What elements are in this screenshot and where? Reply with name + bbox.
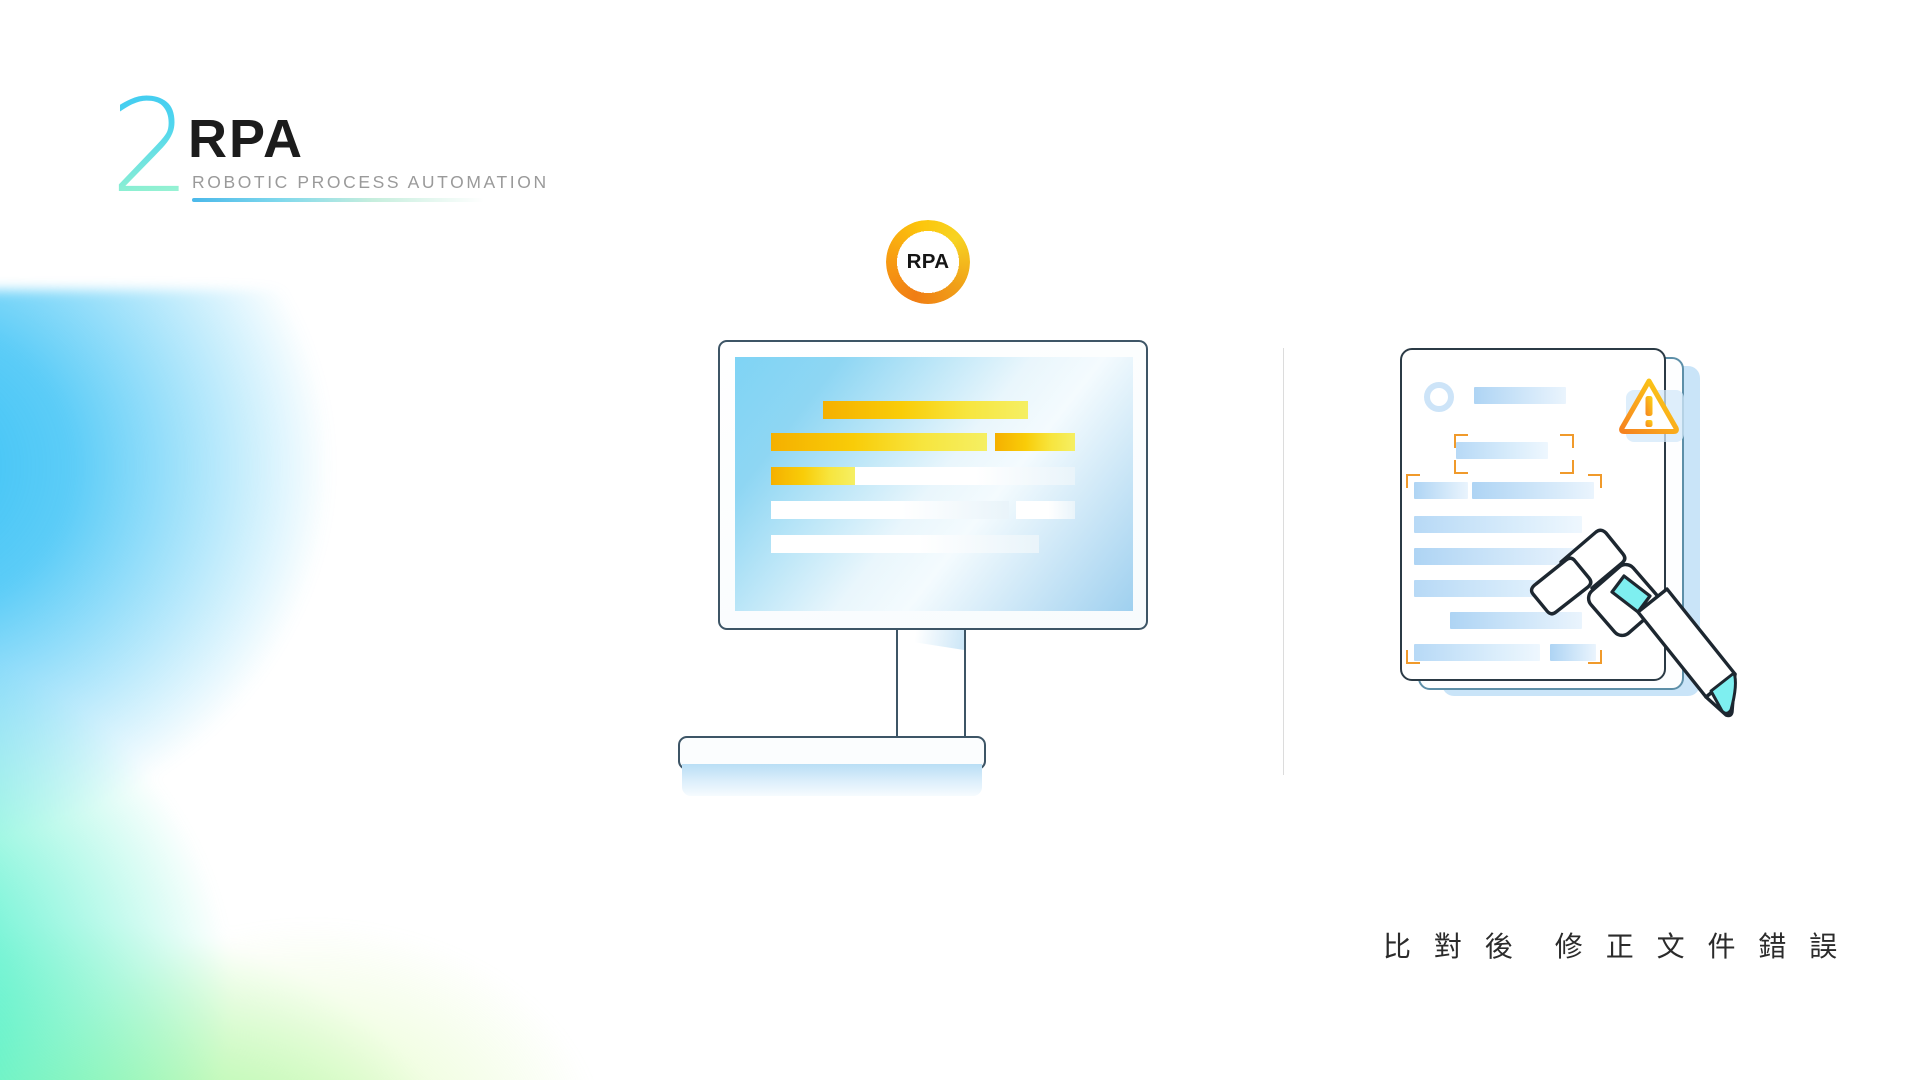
selection-crop-mark	[1454, 434, 1468, 448]
document-illustration	[1400, 348, 1760, 698]
section-divider	[1283, 348, 1284, 775]
robot-arm-with-pen-icon	[1522, 498, 1752, 718]
warning-triangle-icon	[1618, 376, 1680, 434]
step-number: 2	[110, 84, 191, 212]
monitor-base-shadow	[682, 764, 982, 796]
monitor-screen-bar	[771, 535, 1039, 553]
selection-crop-mark	[1588, 474, 1602, 488]
monitor-screen-bar	[771, 433, 987, 451]
monitor-screen-bar	[855, 467, 1075, 485]
monitor-screen-bar	[1016, 501, 1075, 519]
document-text-line	[1456, 442, 1548, 459]
selection-crop-mark	[1560, 434, 1574, 448]
selection-crop-mark	[1406, 474, 1420, 488]
monitor-illustration	[718, 340, 1148, 630]
rpa-badge-label: RPA	[886, 220, 970, 304]
document-text-line	[1472, 482, 1594, 499]
title-block: 2 RPA ROBOTIC PROCESS AUTOMATION	[110, 92, 630, 222]
document-text-line	[1474, 387, 1566, 404]
selection-crop-mark	[1406, 650, 1420, 664]
monitor-screen-bar	[995, 433, 1075, 451]
monitor-neck-shade	[898, 630, 964, 650]
page-subtitle: ROBOTIC PROCESS AUTOMATION	[192, 172, 549, 193]
monitor-neck	[896, 630, 966, 738]
selection-crop-mark	[1454, 460, 1468, 474]
monitor-screen	[735, 357, 1133, 611]
document-avatar-circle-icon	[1424, 382, 1454, 412]
selection-crop-mark	[1560, 460, 1574, 474]
title-underline-rule	[192, 198, 484, 202]
monitor-screen-bar	[771, 501, 1009, 519]
document-text-line	[1414, 482, 1468, 499]
background-gradient-blob	[0, 290, 760, 1080]
page-title: RPA	[188, 108, 304, 170]
monitor-screen-bar	[771, 467, 855, 485]
rpa-badge: RPA	[886, 220, 970, 304]
monitor-bezel	[718, 340, 1148, 630]
caption-text: 比 對 後 修 正 文 件 錯 誤	[1383, 925, 1844, 965]
monitor-screen-bar	[823, 401, 1028, 419]
